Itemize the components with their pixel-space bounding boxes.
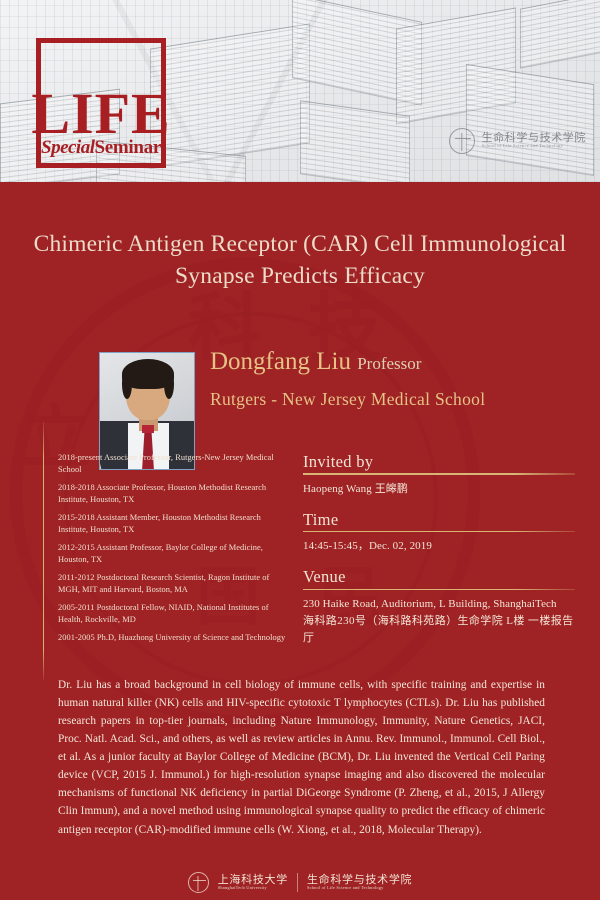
poster-header: LIFE SpecialSeminar 生命科学与技术学院 School of …: [0, 0, 600, 182]
cv-vertical-divider: [43, 422, 44, 680]
cv-item: 2018-2018 Associate Professor, Houston M…: [58, 482, 286, 506]
info-label: Venue: [303, 567, 575, 588]
footer-divider: [297, 873, 298, 892]
speaker-name: Dongfang Liu: [210, 348, 351, 375]
life-logo-subtitle: SpecialSeminar: [41, 138, 161, 157]
seminar-abstract: Dr. Liu has a broad background in cell b…: [58, 676, 545, 839]
footer-university-text: 上海科技大学 ShanghaiTech University: [218, 874, 288, 891]
poster-footer: 上海科技大学 ShanghaiTech University 生命科学与技术学院…: [0, 864, 600, 900]
school-logo-header-en: School of Life Science and Technology: [482, 144, 586, 149]
shanghaitech-seal-icon: [188, 872, 209, 893]
seminar-poster: LIFE SpecialSeminar 生命科学与技术学院 School of …: [0, 0, 600, 900]
info-label: Time: [303, 510, 575, 531]
speaker-rank: Professor: [357, 354, 421, 373]
life-special-seminar-logo: LIFE SpecialSeminar: [36, 38, 166, 168]
cv-item: 2011-2012 Postdoctoral Research Scientis…: [58, 572, 286, 596]
footer-university-en: ShanghaiTech University: [218, 886, 288, 891]
footer-school-text: 生命科学与技术学院 School of Life Science and Tec…: [307, 874, 412, 891]
speaker-name-line: Dongfang Liu Professor: [210, 348, 600, 376]
info-block-venue: Venue 230 Haike Road, Auditorium, L Buil…: [303, 567, 575, 647]
life-logo-word: LIFE: [31, 87, 170, 140]
seminar-title: Chimeric Antigen Receptor (CAR) Cell Imm…: [24, 228, 576, 293]
info-divider: [303, 531, 575, 532]
school-logo-header-text: 生命科学与技术学院 School of Life Science and Tec…: [482, 133, 586, 150]
cv-item: 2001-2005 Ph.D, Huazhong University of S…: [58, 632, 286, 644]
cv-item: 2015-2018 Assistant Member, Houston Meth…: [58, 512, 286, 536]
info-value: Haopeng Wang 王皞鹏: [303, 481, 575, 498]
life-logo-seminar-text: Seminar: [95, 137, 162, 158]
cv-item: 2012-2015 Assistant Professor, Baylor Co…: [58, 542, 286, 566]
cv-item: 2005-2011 Postdoctoral Fellow, NIAID, Na…: [58, 602, 286, 626]
info-value-cn: 海科路230号（海科路科苑路）生命学院 L楼 一楼报告厅: [303, 613, 575, 647]
info-divider: [303, 589, 575, 590]
school-logo-header: 生命科学与技术学院 School of Life Science and Tec…: [449, 128, 586, 154]
speaker-cv-list: 2018-present Associate Professor, Rutger…: [58, 452, 286, 650]
footer-school-cn: 生命科学与技术学院: [307, 874, 412, 886]
info-divider: [303, 473, 575, 474]
campus-building-sketch: [150, 23, 310, 168]
event-info-panel: Invited by Haopeng Wang 王皞鹏 Time 14:45-1…: [303, 452, 575, 659]
info-value: 230 Haike Road, Auditorium, L Building, …: [303, 596, 575, 613]
photo-necktie-knot: [142, 425, 154, 433]
info-value: 14:45-15:45，Dec. 02, 2019: [303, 538, 575, 555]
photo-hair-side-right: [164, 369, 174, 399]
info-block-time: Time 14:45-15:45，Dec. 02, 2019: [303, 510, 575, 556]
campus-building-sketch: [300, 100, 410, 182]
info-label: Invited by: [303, 452, 575, 473]
speaker-affiliation: Rutgers - New Jersey Medical School: [210, 389, 600, 410]
cv-item: 2018-present Associate Professor, Rutger…: [58, 452, 286, 476]
footer-school-en: School of Life Science and Technology: [307, 886, 412, 891]
shanghaitech-seal-icon: [449, 128, 475, 154]
footer-university-cn: 上海科技大学: [218, 874, 288, 886]
life-logo-special-text: Special: [41, 137, 95, 158]
info-block-invited-by: Invited by Haopeng Wang 王皞鹏: [303, 452, 575, 498]
photo-hair-side-left: [122, 369, 132, 399]
